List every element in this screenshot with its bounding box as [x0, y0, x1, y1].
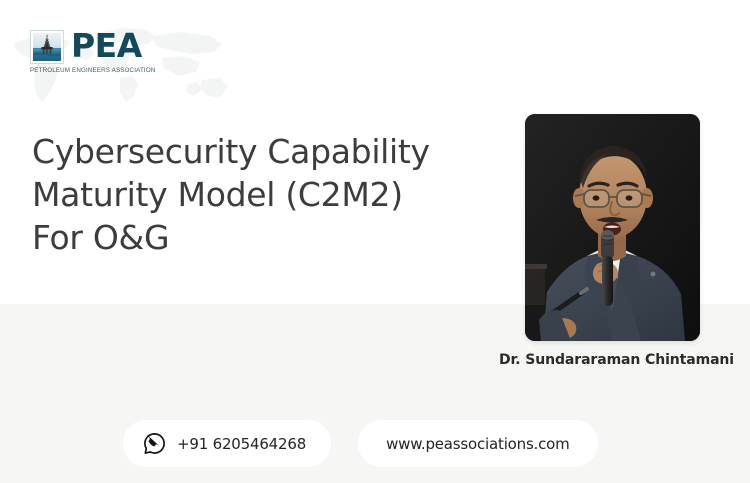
website-url-text: www.peassociations.com — [386, 435, 570, 453]
pea-logo[interactable]: PEA PETROLEUM ENGINEERS ASSOCIATION — [30, 30, 220, 86]
page-title: Cybersecurity Capability Maturity Model … — [32, 130, 502, 259]
headline-line-2: Maturity Model (C2M2) — [32, 173, 502, 216]
website-contact-pill[interactable]: www.peassociations.com — [358, 420, 598, 467]
logo-wordmark: PEA — [71, 30, 142, 61]
logo-tagline: PETROLEUM ENGINEERS ASSOCIATION — [30, 67, 220, 74]
headline-line-1: Cybersecurity Capability — [32, 130, 502, 173]
whatsapp-contact-pill[interactable]: +91 6205464268 — [123, 420, 331, 467]
event-banner: PEA PETROLEUM ENGINEERS ASSOCIATION Cybe… — [0, 0, 750, 483]
offshore-oil-rig-icon — [30, 30, 64, 64]
speaker-photo — [525, 114, 700, 341]
speaker-name: Dr. Sundararaman Chintamani — [400, 352, 734, 368]
phone-number-text: +91 6205464268 — [177, 435, 306, 453]
headline-line-3: For O&G — [32, 216, 502, 259]
whatsapp-icon — [143, 432, 166, 455]
contact-bar: +91 6205464268 www.peassociations.com — [123, 420, 598, 467]
